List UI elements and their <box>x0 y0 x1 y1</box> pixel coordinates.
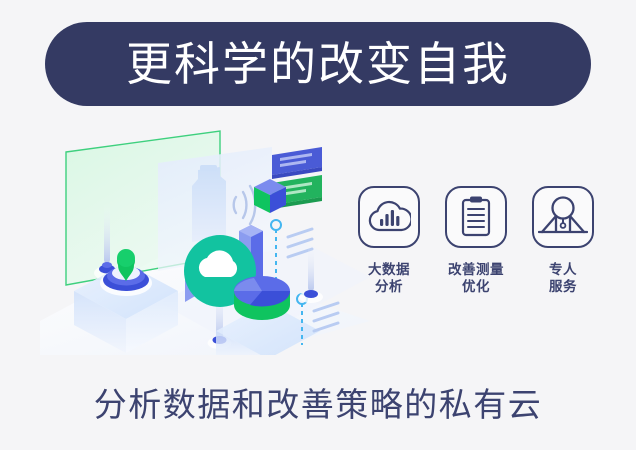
feature-label-measurement: 改善测量 优化 <box>448 261 504 295</box>
feature-label-line2: 服务 <box>549 279 577 294</box>
feature-label-line1: 专人 <box>549 262 577 277</box>
feature-item-big-data[interactable]: 大数据 分析 <box>352 186 426 295</box>
cloud-bar-chart-icon-frame <box>358 186 420 248</box>
feature-label-line2: 分析 <box>375 279 403 294</box>
blue-tag-card <box>272 147 322 179</box>
header-pill: 更科学的改变自我 <box>45 22 591 106</box>
feature-label-line1: 改善测量 <box>448 262 504 277</box>
clipboard-icon <box>457 195 495 239</box>
feature-label-line1: 大数据 <box>368 262 410 277</box>
feature-item-measurement[interactable]: 改善测量 优化 <box>439 186 513 295</box>
service-person-icon <box>538 194 588 240</box>
clipboard-icon-frame <box>445 186 507 248</box>
cloud-bar-chart-icon <box>367 197 411 237</box>
feature-label-line2: 优化 <box>462 279 490 294</box>
feature-list: 大数据 分析 改善测量 优化 <box>352 186 600 326</box>
footer-tagline: 分析数据和改善策略的私有云 <box>0 383 636 427</box>
feature-item-service[interactable]: 专人 服务 <box>526 186 600 295</box>
illustration <box>40 125 370 355</box>
feature-label-service: 专人 服务 <box>549 261 577 295</box>
page-title: 更科学的改变自我 <box>126 41 510 87</box>
feature-label-big-data: 大数据 分析 <box>368 261 410 295</box>
service-person-icon-frame <box>532 186 594 248</box>
pie-chart-3d <box>234 276 290 320</box>
poster-root: 更科学的改变自我 <box>0 0 636 450</box>
